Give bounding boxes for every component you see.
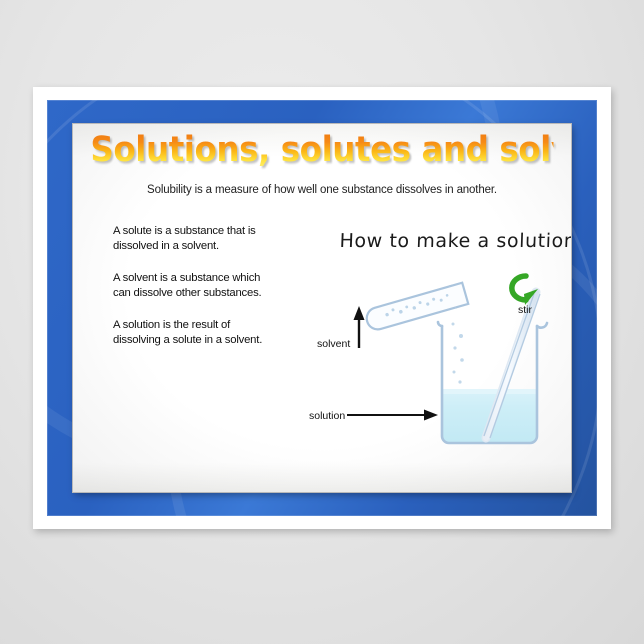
- label-solution: solution: [309, 410, 345, 422]
- solution-pointer-arrow: [347, 410, 438, 421]
- beaker-illustration-svg: [305, 264, 571, 464]
- definition-solute: A solute is a substance that is dissolve…: [113, 224, 265, 254]
- falling-particles: [452, 323, 464, 384]
- diagram-heading: How to make a solution: [318, 230, 571, 252]
- solvent-pointer-arrow: [354, 306, 365, 348]
- poster-content-area: Solutions, solutes and solvents Solubili…: [73, 124, 571, 492]
- subtitle-solubility: Solubility is a measure of how well one …: [73, 184, 571, 196]
- page-title: Solutions, solutes and solvents: [90, 133, 553, 168]
- solution-diagram: solvent solution stir: [305, 264, 571, 464]
- poster: Solutions, solutes and solvents Solubili…: [33, 87, 611, 529]
- poster-blue-frame: Solutions, solutes and solvents Solubili…: [47, 100, 597, 516]
- definition-solvent: A solvent is a substance which can disso…: [113, 271, 265, 301]
- definition-solution: A solution is the result of dissolving a…: [113, 318, 265, 348]
- definitions-column: A solute is a substance that is dissolve…: [113, 224, 265, 364]
- screenshot-root: Solutions, solutes and solvents Solubili…: [0, 0, 644, 644]
- label-stir: stir: [518, 304, 532, 316]
- label-solvent: solvent: [317, 338, 350, 350]
